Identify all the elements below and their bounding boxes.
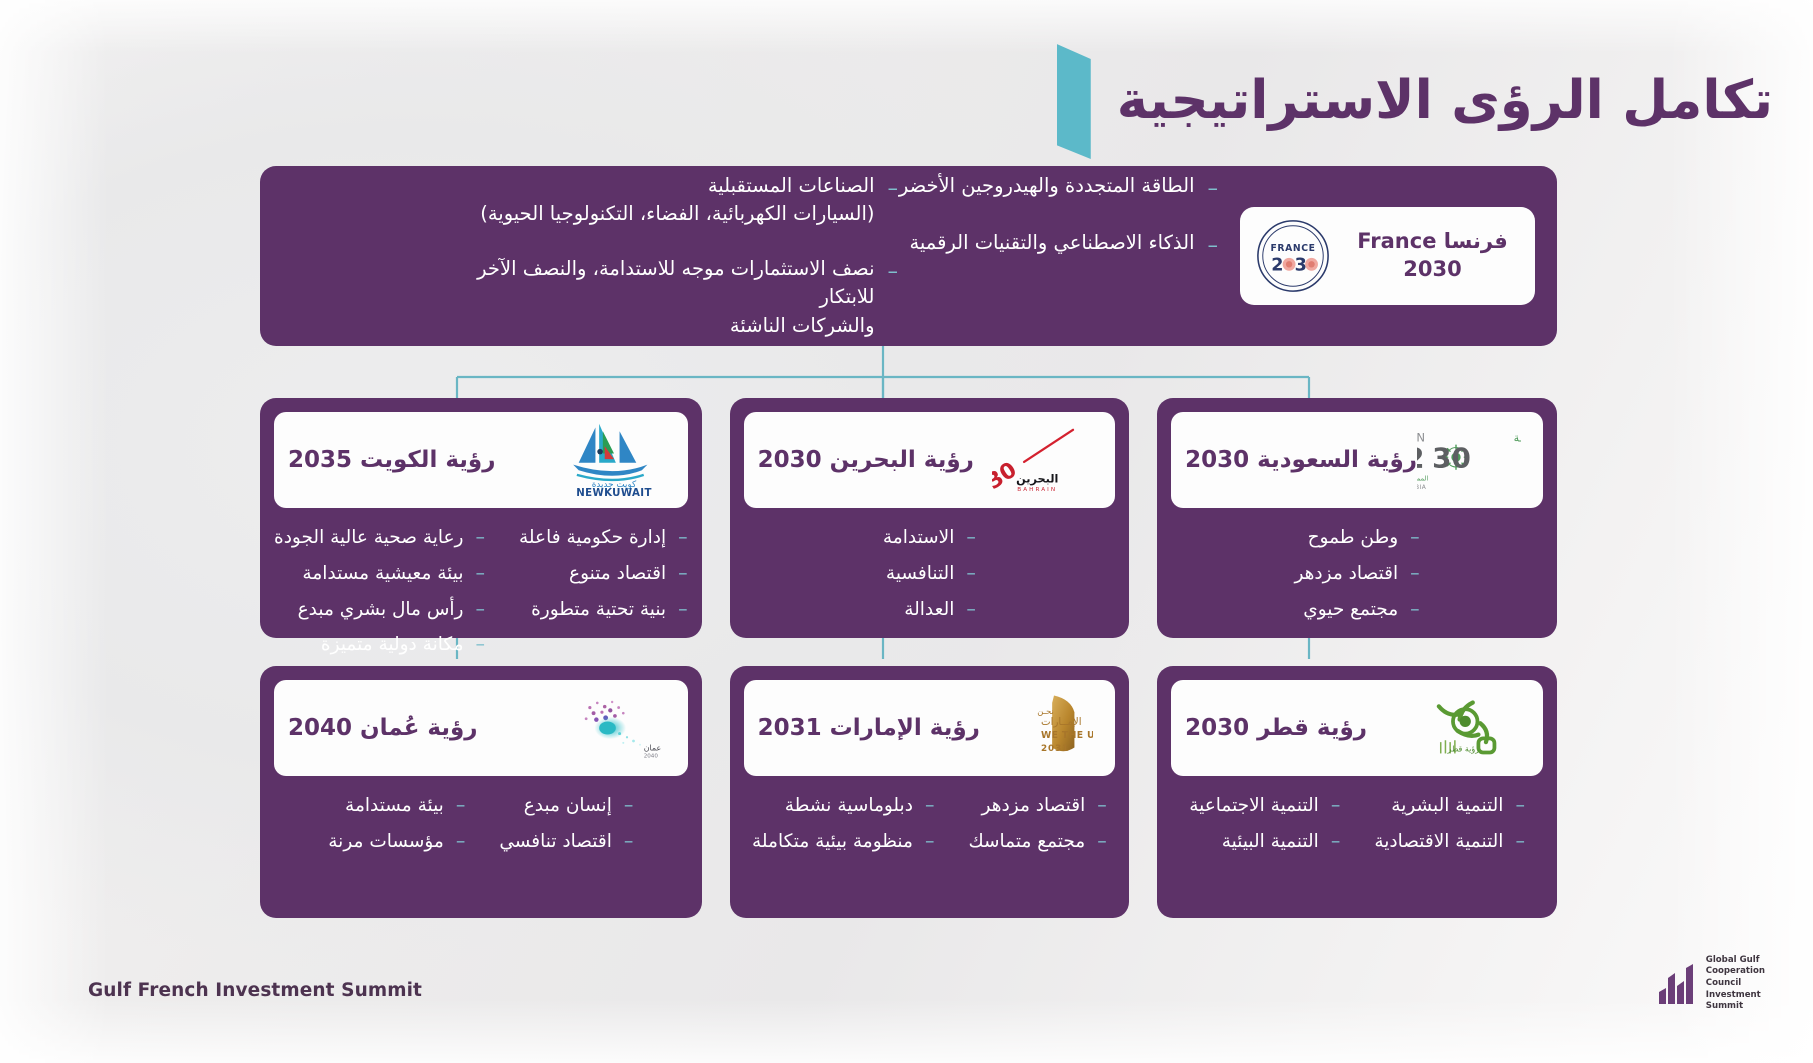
pillar-item: –دبلوماسية نشطة — [752, 792, 934, 820]
dash-icon: – — [925, 828, 935, 856]
pillar-label: الاستدامة — [883, 524, 954, 552]
pillar-item: –بيئة معيشية مستدامة — [274, 560, 485, 588]
vision-card-header-uae: رؤية الإمارات 2031 نحـن الإمــارات WE TH… — [744, 680, 1116, 776]
dash-icon: – — [476, 560, 486, 588]
svg-text:NEWKUWAIT: NEWKUWAIT — [576, 488, 652, 499]
dash-icon: – — [678, 596, 688, 624]
vision-card-uae[interactable]: رؤية الإمارات 2031 نحـن الإمــارات WE TH… — [730, 666, 1130, 918]
svg-text:2: 2 — [1271, 256, 1283, 276]
pillar-item: –مكانة دولية متميزة — [274, 631, 485, 659]
pillar-item: –إدارة حكومية فاعلة — [519, 524, 688, 552]
pillar-column-oman-0: –إنسان مبدع–اقتصاد تنافسي — [499, 792, 633, 856]
svg-text:BAHRAIN: BAHRAIN — [1017, 487, 1057, 493]
pillar-item: –اقتصاد مزدهر — [968, 792, 1106, 820]
pillar-item: –التنافسية — [883, 560, 976, 588]
pillar-label: بنية تحتية متطورة — [531, 596, 666, 624]
vision-card-title-qatar: رؤية قطر 2030 — [1185, 715, 1367, 741]
pillar-label: التنمية البيئية — [1222, 828, 1319, 856]
vision-card-header-oman: رؤية عُمان 2040 — [274, 680, 688, 776]
pillar-column-qatar-0: –التنمية البشرية–التنمية الاقتصادية — [1374, 792, 1525, 856]
svg-text:WE THE UAE: WE THE UAE — [1041, 730, 1093, 741]
slide-header: تكامل الرؤى الاستراتيجية — [1057, 44, 1773, 159]
vision-card-bahrain[interactable]: رؤية البحرين 2030 2030 البحرين BAHRAIN –… — [730, 398, 1130, 638]
vision-card-title-oman: رؤية عُمان 2040 — [288, 715, 478, 741]
svg-text:2: 2 — [1417, 441, 1424, 474]
pillar-column-kuwait-0: –إدارة حكومية فاعلة–اقتصاد متنوع–بنية تح… — [519, 524, 688, 623]
pillar-column-saudi-0: –وطن طموح–اقتصاد مزدهر–مجتمع حيوي — [1294, 524, 1419, 623]
svg-text:30: 30 — [1432, 441, 1471, 474]
pillar-label: دبلوماسية نشطة — [785, 792, 913, 820]
slide-canvas: تكامل الرؤى الاستراتيجية فرنسا France 20… — [0, 0, 1813, 1063]
pillar-item: –اقتصاد تنافسي — [499, 828, 633, 856]
pillar-item: –مجتمع حيوي — [1294, 596, 1419, 624]
dash-icon: – — [1515, 828, 1525, 856]
pillar-label: مجتمع متماسك — [968, 828, 1085, 856]
svg-text:المملكة العربية السعودية: المملكة العربية السعودية — [1417, 474, 1428, 482]
pillar-item: –مؤسسات مرنة — [328, 828, 465, 856]
pillar-label: العدالة — [904, 596, 954, 624]
pillar-label: إنسان مبدع — [524, 792, 612, 820]
vision-card-header-qatar: رؤية قطر 2030 رؤية قطر — [1171, 680, 1543, 776]
dash-icon: – — [624, 792, 634, 820]
vision-card-pillars-saudi: –وطن طموح–اقتصاد مزدهر–مجتمع حيوي — [1171, 508, 1543, 628]
pillar-label: التنمية البشرية — [1391, 792, 1503, 820]
vision-card-saudi[interactable]: رؤية السعودية 2030 VISION رؤيــة 2 30 ال… — [1157, 398, 1557, 638]
dash-icon: – — [456, 792, 466, 820]
dash-icon: – — [1208, 172, 1219, 203]
france-bullets-right-column: – الطاقة المتجددة والهيدروجين الأخضر – ا… — [898, 172, 1218, 340]
dash-icon: – — [1331, 792, 1341, 820]
qatar-vision-2030-logo: رؤية قطر — [1417, 689, 1521, 767]
pillar-label: اقتصاد مزدهر — [1294, 560, 1398, 588]
vision-card-title-uae: رؤية الإمارات 2031 — [758, 715, 980, 741]
we-the-uae-2031-logo: نحـن الإمــارات WE THE UAE 2031 — [989, 689, 1093, 767]
title-accent-bar — [1057, 44, 1091, 159]
pillar-column-oman-1: –بيئة مستدامة–مؤسسات مرنة — [328, 792, 465, 856]
pillar-item: –وطن طموح — [1294, 524, 1419, 552]
vision-card-qatar[interactable]: رؤية قطر 2030 رؤية قطر –التنمية البشرية–… — [1157, 666, 1557, 918]
vision-card-kuwait[interactable]: رؤية الكويت 2035 كويت جديدة NEWKUWAIT –إ… — [260, 398, 702, 638]
page-title: تكامل الرؤى الاستراتيجية — [1117, 71, 1773, 132]
france-2030-panel: فرنسا France 2030 FRANCE 2 3 – — [260, 166, 1557, 346]
vision-card-pillars-oman: –إنسان مبدع–اقتصاد تنافسي–بيئة مستدامة–م… — [274, 776, 688, 908]
bullet-label: الطاقة المتجددة والهيدروجين الأخضر — [899, 172, 1195, 200]
svg-text:KINGDOM OF SAUDI ARABIA: KINGDOM OF SAUDI ARABIA — [1417, 484, 1427, 491]
dash-icon: – — [888, 172, 899, 203]
dash-icon: – — [1097, 828, 1107, 856]
bullet-label: الصناعات المستقبلية (السيارات الكهربائية… — [480, 172, 874, 229]
france-2030-label: فرنسا France 2030 — [1344, 228, 1521, 283]
pillar-item: –مجتمع متماسك — [968, 828, 1106, 856]
vision-cards-grid: رؤية السعودية 2030 VISION رؤيــة 2 30 ال… — [260, 398, 1557, 918]
dash-icon: – — [966, 524, 976, 552]
dash-icon: – — [888, 255, 899, 286]
pillar-label: التنمية الاجتماعية — [1189, 792, 1319, 820]
dash-icon: – — [678, 524, 688, 552]
pillar-item: –بيئة مستدامة — [328, 792, 465, 820]
dash-icon: – — [1410, 596, 1420, 624]
france-2030-bullets: – الطاقة المتجددة والهيدروجين الأخضر – ا… — [284, 172, 1240, 340]
pillar-label: مكانة دولية متميزة — [321, 631, 464, 659]
dash-icon: – — [1410, 524, 1420, 552]
vision-card-header-kuwait: رؤية الكويت 2035 كويت جديدة NEWKUWAIT — [274, 412, 688, 508]
oman-vision-2040-logo: عمان 2040 — [562, 689, 666, 767]
dash-icon: – — [476, 596, 486, 624]
dash-icon: – — [1331, 828, 1341, 856]
svg-text:عمان: عمان — [643, 743, 660, 752]
pillar-column-uae-0: –اقتصاد مزدهر–مجتمع متماسك — [968, 792, 1106, 856]
dash-icon: – — [476, 631, 486, 659]
pillar-label: مؤسسات مرنة — [328, 828, 444, 856]
pillar-label: التنافسية — [886, 560, 954, 588]
pillar-label: منظومة بيئية متكاملة — [752, 828, 913, 856]
dash-icon: – — [1208, 229, 1219, 260]
vision-card-pillars-qatar: –التنمية البشرية–التنمية الاقتصادية–التن… — [1171, 776, 1543, 908]
pillar-label: اقتصاد تنافسي — [499, 828, 612, 856]
pillar-label: بيئة معيشية مستدامة — [302, 560, 463, 588]
vision-card-header-saudi: رؤية السعودية 2030 VISION رؤيــة 2 30 ال… — [1171, 412, 1543, 508]
pillar-item: –التنمية البيئية — [1189, 828, 1340, 856]
pillar-column-uae-1: –دبلوماسية نشطة–منظومة بيئية متكاملة — [752, 792, 934, 856]
vision-card-title-bahrain: رؤية البحرين 2030 — [758, 447, 974, 473]
pillar-label: مجتمع حيوي — [1303, 596, 1398, 624]
dash-icon: – — [1410, 560, 1420, 588]
bullet-label: الذكاء الاصطناعي والتقنيات الرقمية — [909, 229, 1194, 257]
bahrain-vision-2030-logo: 2030 البحرين BAHRAIN — [989, 421, 1093, 499]
pillar-item: –إنسان مبدع — [499, 792, 633, 820]
dash-icon: – — [1097, 792, 1107, 820]
new-kuwait-logo: كويت جديدة NEWKUWAIT — [562, 421, 666, 499]
pillar-item: –التنمية الاجتماعية — [1189, 792, 1340, 820]
vision-card-title-kuwait: رؤية الكويت 2035 — [288, 447, 495, 473]
svg-text:رؤيــة: رؤيــة — [1514, 431, 1521, 444]
svg-text:نحـن: نحـن — [1037, 706, 1054, 716]
pillar-label: اقتصاد مزدهر — [982, 792, 1086, 820]
saudi-vision-2030-logo: VISION رؤيــة 2 30 المملكة العربية السعو… — [1417, 421, 1521, 499]
pillar-label: وطن طموح — [1308, 524, 1399, 552]
pillar-item: –اقتصاد مزدهر — [1294, 560, 1419, 588]
svg-text:FRANCE: FRANCE — [1271, 243, 1316, 254]
footer-event-name: Gulf French Investment Summit — [88, 980, 422, 1001]
vision-card-header-bahrain: رؤية البحرين 2030 2030 البحرين BAHRAIN — [744, 412, 1116, 508]
pillar-item: –التنمية الاقتصادية — [1374, 828, 1525, 856]
pillar-label: اقتصاد متنوع — [569, 560, 666, 588]
pillar-item: –الاستدامة — [883, 524, 976, 552]
svg-text:2040: 2040 — [643, 754, 658, 760]
pillar-label: إدارة حكومية فاعلة — [519, 524, 666, 552]
svg-text:3: 3 — [1295, 256, 1307, 276]
pillar-item: –بنية تحتية متطورة — [519, 596, 688, 624]
dash-icon: – — [966, 560, 976, 588]
bullet-item: – الذكاء الاصطناعي والتقنيات الرقمية — [898, 229, 1218, 260]
vision-card-pillars-bahrain: –الاستدامة–التنافسية–العدالة — [744, 508, 1116, 628]
dash-icon: – — [456, 828, 466, 856]
pillar-label: التنمية الاقتصادية — [1374, 828, 1503, 856]
svg-text:رؤية قطر: رؤية قطر — [1447, 745, 1480, 754]
vision-card-title-saudi: رؤية السعودية 2030 — [1185, 447, 1417, 473]
bullet-label: نصف الاستثمارات موجه للاستدامة، والنصف ا… — [418, 255, 875, 340]
vision-card-pillars-kuwait: –إدارة حكومية فاعلة–اقتصاد متنوع–بنية تح… — [274, 508, 688, 659]
pillar-item: –اقتصاد متنوع — [519, 560, 688, 588]
pillar-label: رعاية صحية عالية الجودة — [274, 524, 464, 552]
france-2030-card[interactable]: فرنسا France 2030 FRANCE 2 3 — [1240, 207, 1535, 305]
pillar-item: –رأس مال بشري مبدع — [274, 596, 485, 624]
pillar-item: –التنمية البشرية — [1374, 792, 1525, 820]
vision-card-pillars-uae: –اقتصاد مزدهر–مجتمع متماسك–دبلوماسية نشط… — [744, 776, 1116, 908]
pillar-label: رأس مال بشري مبدع — [298, 596, 464, 624]
france-2030-logo: FRANCE 2 3 — [1254, 217, 1332, 295]
svg-text:البحرين: البحرين — [1016, 473, 1058, 486]
bullet-item: – الصناعات المستقبلية (السيارات الكهربائ… — [418, 172, 898, 229]
dash-icon: – — [476, 524, 486, 552]
bullet-item: – الطاقة المتجددة والهيدروجين الأخضر — [898, 172, 1218, 203]
dash-icon: – — [966, 596, 976, 624]
svg-text:2031: 2031 — [1041, 744, 1069, 754]
pillar-column-qatar-1: –التنمية الاجتماعية–التنمية البيئية — [1189, 792, 1340, 856]
pillar-item: –منظومة بيئية متكاملة — [752, 828, 934, 856]
vision-card-oman[interactable]: رؤية عُمان 2040 — [260, 666, 702, 918]
gcc-bars-icon — [1657, 962, 1697, 1006]
pillar-item: –العدالة — [883, 596, 976, 624]
svg-text:الإمــارات: الإمــارات — [1041, 717, 1082, 728]
gcc-logo-text: Global Gulf Cooperation Council Investme… — [1706, 955, 1765, 1013]
pillar-column-kuwait-1: –رعاية صحية عالية الجودة–بيئة معيشية مست… — [274, 524, 485, 659]
pillar-label: بيئة مستدامة — [345, 792, 444, 820]
pillar-column-bahrain-0: –الاستدامة–التنافسية–العدالة — [883, 524, 976, 623]
dash-icon: – — [678, 560, 688, 588]
pillar-item: –رعاية صحية عالية الجودة — [274, 524, 485, 552]
dash-icon: – — [624, 828, 634, 856]
dash-icon: – — [1515, 792, 1525, 820]
france-bullets-left-column: – الصناعات المستقبلية (السيارات الكهربائ… — [418, 172, 898, 340]
footer-logo: Global Gulf Cooperation Council Investme… — [1657, 955, 1765, 1013]
bullet-item: – نصف الاستثمارات موجه للاستدامة، والنصف… — [418, 255, 898, 340]
dash-icon: – — [925, 792, 935, 820]
